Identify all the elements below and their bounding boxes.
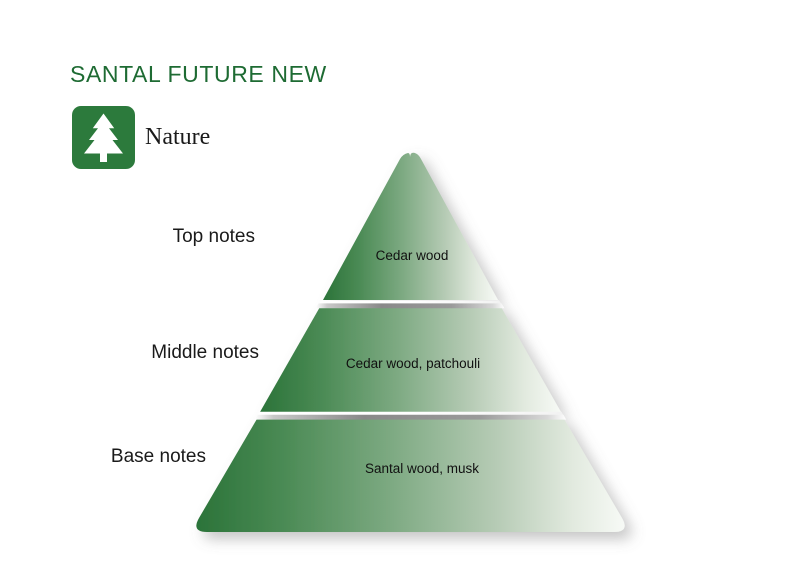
pyramid-tier-top [323,153,498,300]
tier-notes-base: Santal wood, musk [365,462,479,476]
tier-notes-middle: Cedar wood, patchouli [346,357,480,371]
tier-notes-top: Cedar wood [376,249,449,263]
pine-tree-icon [72,106,135,169]
page-title: SANTAL FUTURE NEW [70,63,327,86]
fragrance-pyramid-canvas: SANTAL FUTURE NEW Nature [0,0,800,566]
tier-label-base: Base notes [111,447,206,466]
tier-label-middle: Middle notes [151,343,259,362]
pyramid-divider-2 [255,412,566,420]
tier-label-top: Top notes [173,227,255,246]
pyramid-divider-1 [316,300,505,308]
